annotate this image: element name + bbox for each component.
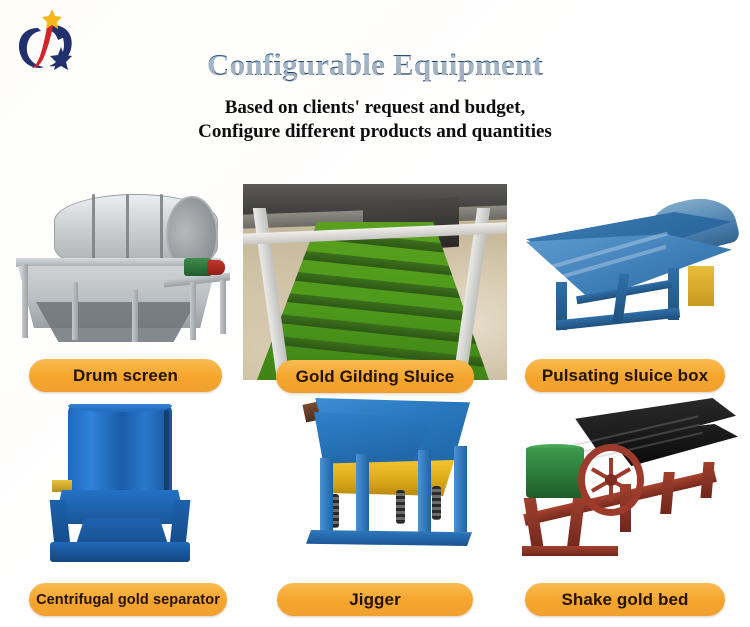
product-label-text: Drum screen	[73, 366, 178, 386]
product-label-text: Gold Gilding Sluice	[296, 367, 455, 387]
jig-machine-icon	[300, 398, 480, 564]
product-label-centrifugal-gold-separator[interactable]: Centrifugal gold separator	[29, 583, 227, 616]
centrifugal-separator-icon	[40, 404, 200, 564]
product-label-text: Pulsating sluice box	[542, 366, 708, 386]
shaking-table-icon	[512, 398, 738, 562]
product-label-text: Shake gold bed	[561, 590, 688, 610]
product-label-jigger[interactable]: Jigger	[277, 583, 473, 616]
sluice-box-photo-icon	[243, 184, 507, 380]
product-label-text: Centrifugal gold separator	[36, 592, 220, 608]
product-label-drum-screen[interactable]: Drum screen	[29, 359, 222, 392]
trommel-screen-icon	[14, 186, 232, 346]
product-label-text: Jigger	[349, 590, 401, 610]
product-label-pulsating-sluice-box[interactable]: Pulsating sluice box	[525, 359, 725, 392]
product-grid: Drum screen Gold Gilding Sluice	[0, 176, 750, 627]
page-title: Configurable Equipment	[0, 48, 750, 82]
product-label-shake-gold-bed[interactable]: Shake gold bed	[525, 583, 725, 616]
pulsating-sluice-icon	[520, 190, 740, 346]
subtitle-line-2: Configure different products and quantit…	[0, 120, 750, 144]
page-subtitle: Based on clients' request and budget, Co…	[0, 96, 750, 144]
page-header: Configurable Equipment Based on clients'…	[0, 48, 750, 144]
subtitle-line-1: Based on clients' request and budget,	[0, 96, 750, 120]
product-label-gold-gilding-sluice[interactable]: Gold Gilding Sluice	[276, 360, 474, 393]
